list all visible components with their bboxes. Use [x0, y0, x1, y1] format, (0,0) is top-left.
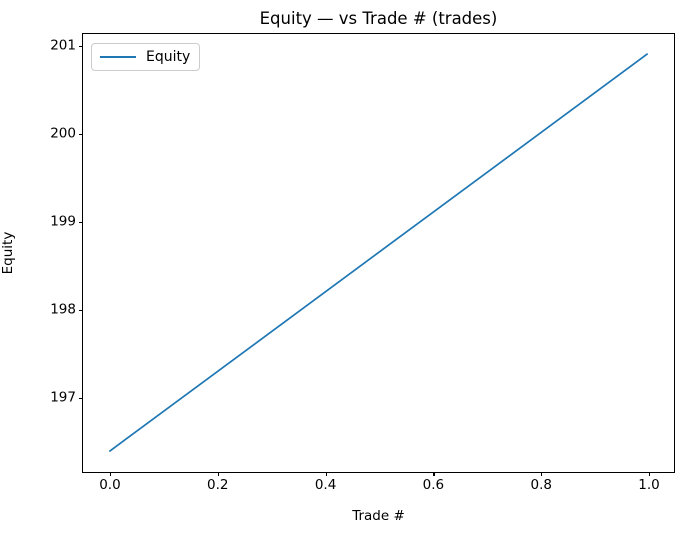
line-series-equity — [83, 34, 674, 472]
x-tick-mark — [218, 472, 219, 476]
x-tick-mark — [433, 472, 434, 476]
x-tick-mark — [541, 472, 542, 476]
chart-title: Equity — vs Trade # (trades) — [82, 9, 675, 29]
matplotlib-figure: Equity — vs Trade # (trades) 19719819920… — [0, 0, 687, 546]
y-tick-label: 201 — [50, 40, 76, 54]
y-tick-label: 200 — [50, 127, 76, 141]
legend-label: Equity — [146, 50, 190, 64]
legend-line-icon — [100, 56, 136, 58]
x-tick-label: 0.8 — [530, 479, 551, 493]
y-axis-label: Equity — [0, 33, 17, 473]
y-tick-label: 197 — [50, 391, 76, 405]
y-tick-mark — [79, 222, 83, 223]
y-tick-mark — [79, 310, 83, 311]
plot-area: 197198199200201 0.00.20.40.60.81.0 Equit… — [82, 33, 675, 473]
x-tick-label: 0.6 — [423, 479, 444, 493]
x-tick-label: 1.0 — [638, 479, 659, 493]
x-tick-mark — [649, 472, 650, 476]
chart-legend[interactable]: Equity — [91, 43, 200, 71]
x-tick-label: 0.4 — [315, 479, 336, 493]
x-tick-label: 0.0 — [99, 479, 120, 493]
y-tick-mark — [79, 46, 83, 47]
y-tick-label: 198 — [50, 303, 76, 317]
y-tick-mark — [79, 134, 83, 135]
y-tick-mark — [79, 398, 83, 399]
legend-entry[interactable]: Equity — [100, 50, 190, 64]
equity-line-path — [110, 54, 647, 451]
x-tick-mark — [110, 472, 111, 476]
x-axis-label: Trade # — [82, 508, 675, 524]
x-tick-mark — [326, 472, 327, 476]
y-tick-label: 199 — [50, 215, 76, 229]
x-tick-label: 0.2 — [207, 479, 228, 493]
